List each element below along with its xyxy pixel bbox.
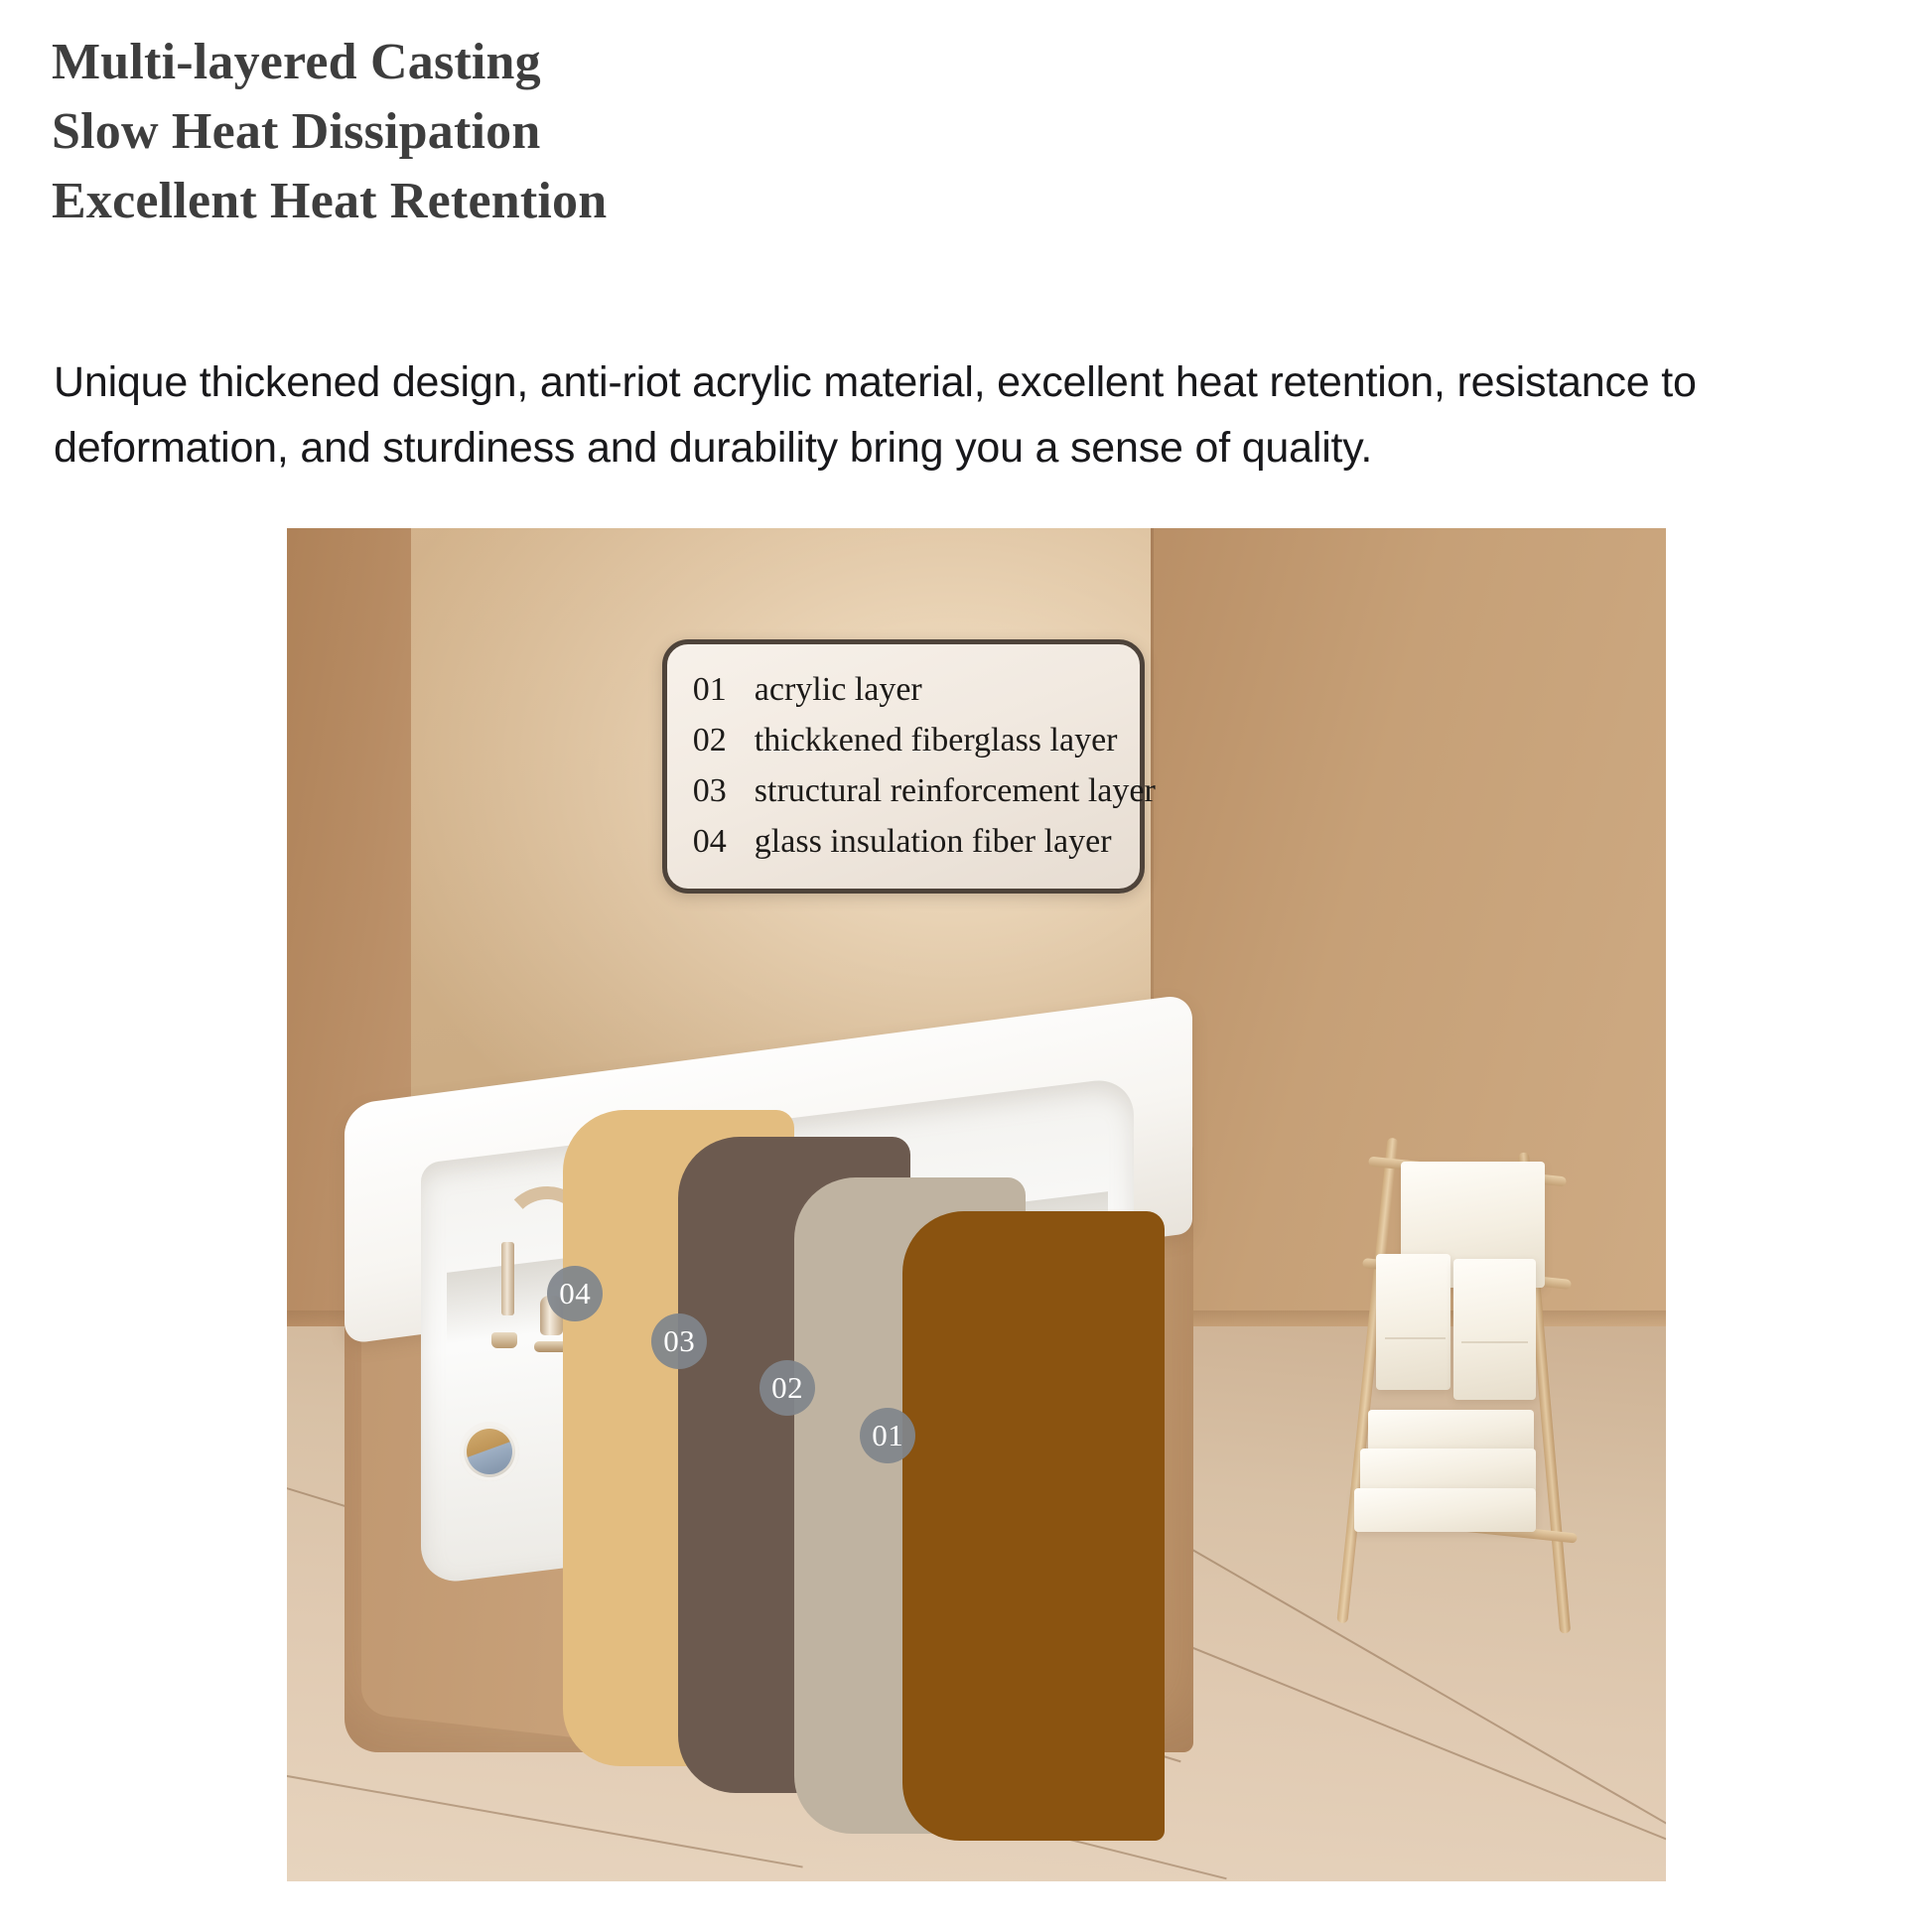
legend-label: acrylic layer (755, 664, 922, 715)
legend-row: 03 structural reinforcement layer (693, 765, 1114, 816)
layer-badge-02: 02 (759, 1360, 815, 1416)
heading-line-2: Slow Heat Dissipation (52, 97, 1243, 167)
layer-stack-diagram: 04 03 02 01 (563, 1110, 1335, 1787)
heading-line-1: Multi-layered Casting (52, 28, 1243, 97)
towel-folded-top (1368, 1410, 1534, 1453)
legend-label: thickkened fiberglass layer (755, 715, 1118, 765)
legend-number: 04 (693, 816, 755, 867)
towel-folded-middle (1360, 1449, 1537, 1492)
legend-number: 02 (693, 715, 755, 765)
legend-number: 01 (693, 664, 755, 715)
product-scene-image: 04 03 02 01 01 acrylic layer 02 thickken… (287, 528, 1666, 1881)
heading-block: Multi-layered Casting Slow Heat Dissipat… (52, 28, 1243, 236)
towel-fold-line (1461, 1341, 1528, 1343)
layer-legend-callout: 01 acrylic layer 02 thickkened fiberglas… (662, 639, 1145, 894)
legend-label: glass insulation fiber layer (755, 816, 1112, 867)
heading-line-3: Excellent Heat Retention (52, 167, 1243, 236)
towel-folded-bottom (1354, 1488, 1536, 1532)
legend-row: 02 thickkened fiberglass layer (693, 715, 1114, 765)
legend-row: 01 acrylic layer (693, 664, 1114, 715)
legend-label: structural reinforcement layer (755, 765, 1156, 816)
towel-fold-line (1385, 1337, 1446, 1339)
layer-badge-04: 04 (547, 1266, 603, 1321)
legend-number: 03 (693, 765, 755, 816)
towel-ladder-rack (1335, 1137, 1611, 1624)
overflow-drain-cap (460, 1422, 519, 1481)
intro-paragraph: Unique thickened design, anti-riot acryl… (54, 349, 1890, 481)
faucet-base (491, 1332, 517, 1348)
towel-hanging-left (1376, 1254, 1450, 1390)
layer-swatch-01 (902, 1211, 1165, 1841)
legend-row: 04 glass insulation fiber layer (693, 816, 1114, 867)
towel-hanging-right (1453, 1259, 1536, 1400)
layer-badge-03: 03 (651, 1313, 707, 1369)
layer-badge-01: 01 (860, 1408, 915, 1463)
